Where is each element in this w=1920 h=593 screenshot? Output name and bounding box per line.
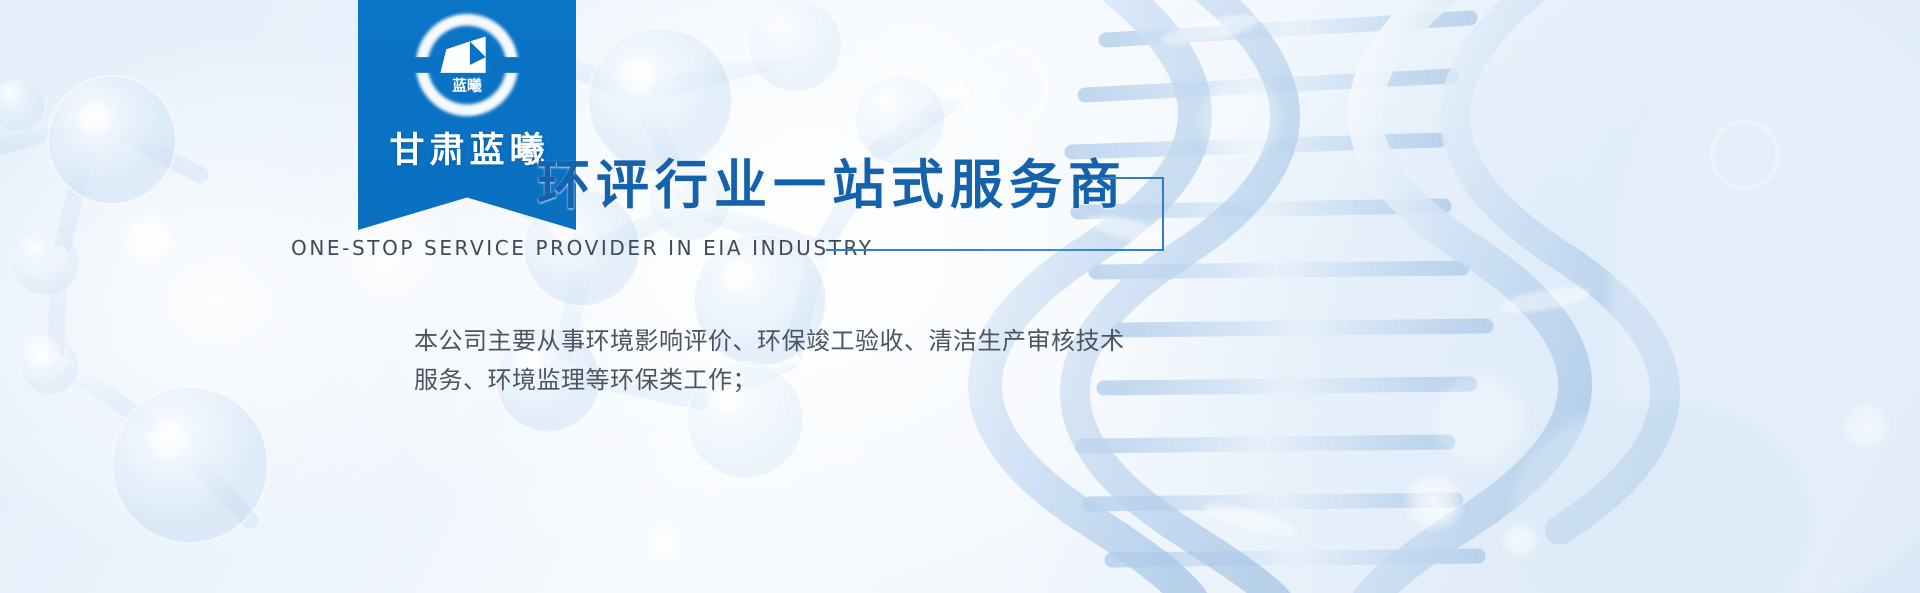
connector-vertical-line (1162, 177, 1164, 251)
subtitle-connector-line (826, 249, 1164, 251)
headline-connector-line (1100, 177, 1164, 179)
body-line-1: 本公司主要从事环境影响评价、环保竣工验收、清洁生产审核技术 (414, 322, 1214, 361)
body-description: 本公司主要从事环境影响评价、环保竣工验收、清洁生产审核技术 服务、环境监理等环保… (414, 322, 1214, 400)
svg-text:蓝曦: 蓝曦 (452, 77, 482, 95)
molecule-cluster-graphic (0, 76, 268, 543)
dna-helix-graphic (985, 0, 1665, 593)
right-light-wash (1510, 0, 1920, 593)
light-bokeh-circles (0, 0, 1920, 593)
body-line-2: 服务、环境监理等环保类工作； (414, 361, 1214, 400)
background-decoration-layer (0, 0, 1920, 593)
page-title: 环评行业一站式服务商 (537, 143, 1127, 219)
company-emblem-icon: 蓝曦 (408, 6, 526, 124)
page-subtitle-english: ONE-STOP SERVICE PROVIDER IN EIA INDUSTR… (291, 236, 874, 260)
hero-banner: 蓝曦 甘肃蓝曦 环评行业一站式服务商 ONE-STOP SERVICE PROV… (0, 0, 1920, 593)
